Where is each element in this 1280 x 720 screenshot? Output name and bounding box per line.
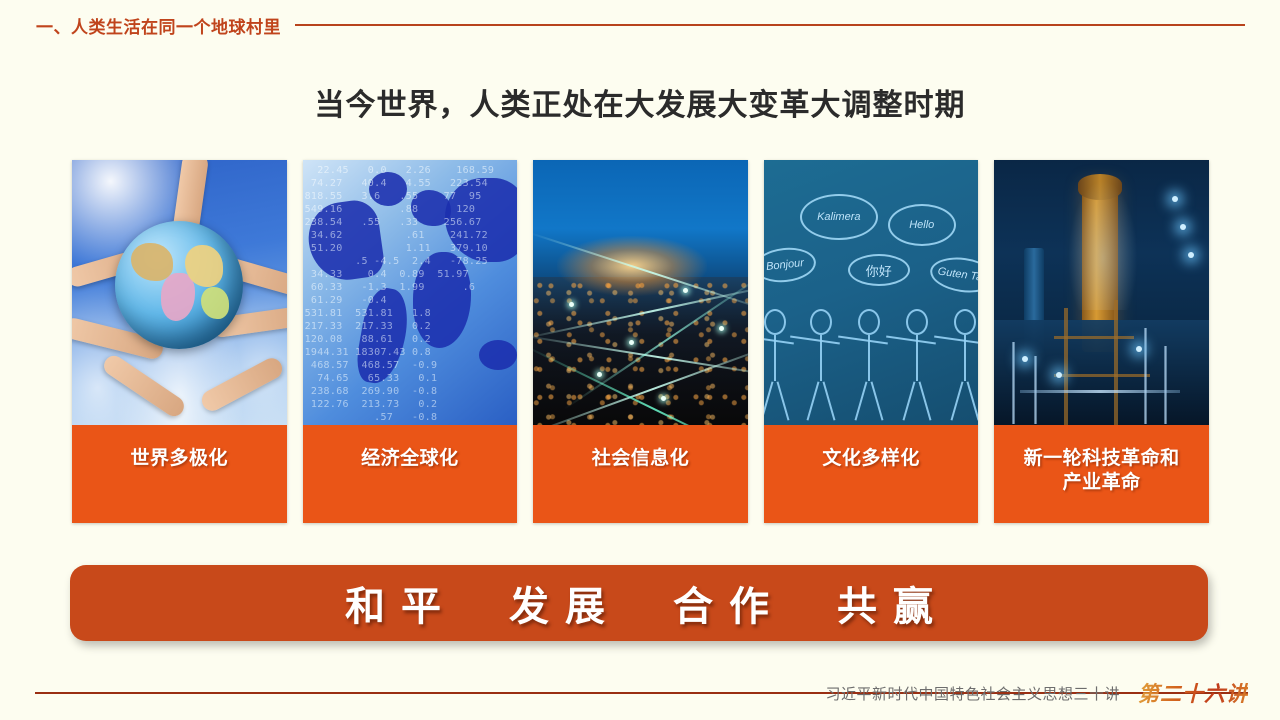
stick-figure (900, 309, 934, 419)
hands-holding-globe-photo (72, 160, 287, 425)
hand-shape (198, 355, 286, 415)
page-title: 当今世界，人类正处在大发展大变革大调整时期 (0, 80, 1280, 124)
stick-figure (764, 309, 792, 419)
stick-figure (852, 309, 886, 419)
night-city-network-photo (533, 160, 748, 425)
slogan-banner: 和平 发展 合作 共赢 (70, 565, 1208, 641)
card-caption-label: 新一轮科技革命和 产业革命 (1024, 447, 1180, 495)
footer: 习近平新时代中国特色社会主义思想三十讲 第二十六讲 (0, 676, 1280, 710)
header-divider (295, 24, 1245, 26)
card-world-multipolarization[interactable]: 世界多极化 (72, 160, 287, 523)
speech-bubble-nihao: 你好 (848, 254, 910, 286)
card-economic-globalization[interactable]: 22.45 0.0 2.26 168.59 74.27 40.4 4.55 22… (303, 160, 518, 523)
globe-icon (115, 221, 243, 349)
speech-bubble-hello: Hello (888, 204, 956, 246)
section-title: 一、人类生活在同一个地球村里 (36, 13, 281, 38)
card-caption: 文化多样化 (764, 425, 979, 523)
card-cultural-diversity[interactable]: Bonjour Kalimera 你好 Hello Guten Tag 文化多样… (764, 160, 979, 523)
speech-bubble-gutentag: Guten Tag (928, 254, 979, 297)
card-caption-label: 世界多极化 (131, 447, 229, 471)
card-caption-label: 社会信息化 (592, 447, 690, 471)
hand-shape (100, 352, 187, 420)
chalkboard-greetings-photo: Bonjour Kalimera 你好 Hello Guten Tag (764, 160, 979, 425)
slide: 一、人类生活在同一个地球村里 当今世界，人类正处在大发展大变革大调整时期 (0, 0, 1280, 720)
card-caption: 世界多极化 (72, 425, 287, 523)
card-caption-label: 经济全球化 (361, 447, 459, 471)
card-caption: 经济全球化 (303, 425, 518, 523)
stick-figure (948, 309, 979, 419)
footer-book-title: 习近平新时代中国特色社会主义思想三十讲 (825, 683, 1120, 704)
finance-numbers-overlay: 22.45 0.0 2.26 168.59 74.27 40.4 4.55 22… (303, 160, 518, 425)
card-caption: 社会信息化 (533, 425, 748, 523)
speech-bubble-bonjour: Bonjour (764, 245, 818, 285)
stick-figure (804, 309, 838, 419)
slogan-text: 和平 发展 合作 共赢 (329, 574, 949, 632)
card-caption-label: 文化多样化 (822, 447, 920, 471)
card-new-tech-revolution[interactable]: 新一轮科技革命和 产业革命 (994, 160, 1209, 523)
section-header: 一、人类生活在同一个地球村里 (0, 8, 1280, 42)
industrial-refinery-night-photo (994, 160, 1209, 425)
card-social-informatization[interactable]: 社会信息化 (533, 160, 748, 523)
card-row: 世界多极化 22.45 0.0 2.26 168.59 74.27 40.4 4… (72, 160, 1209, 523)
blue-world-map-finance-photo: 22.45 0.0 2.26 168.59 74.27 40.4 4.55 22… (303, 160, 518, 425)
speech-bubble-kalimera: Kalimera (800, 194, 878, 240)
card-caption: 新一轮科技革命和 产业革命 (994, 425, 1209, 523)
footer-lecture-number: 第二十六讲 (1138, 678, 1248, 708)
